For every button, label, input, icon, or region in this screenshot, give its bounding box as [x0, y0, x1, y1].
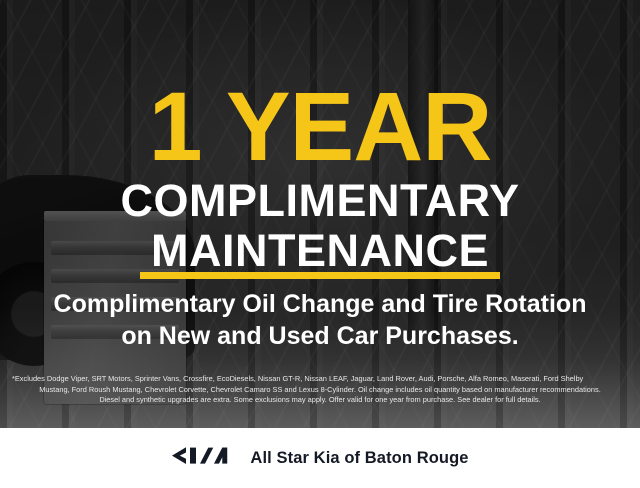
kia-wordmark-logo: [171, 445, 233, 471]
hero-section: 1 YEAR COMPLIMENTARY MAINTENANCE Complim…: [0, 0, 640, 428]
disclaimer-line-2: Mustang, Ford Roush Mustang, Chevrolet C…: [12, 385, 628, 396]
yellow-divider-rule: [140, 272, 500, 279]
disclaimer-text: *Excludes Dodge Viper, SRT Motors, Sprin…: [12, 374, 628, 406]
offer-description: Complimentary Oil Change and Tire Rotati…: [0, 288, 640, 352]
headline-year: 1 YEAR: [0, 78, 640, 175]
offer-line-1: Complimentary Oil Change and Tire Rotati…: [0, 288, 640, 320]
promotional-banner: 1 YEAR COMPLIMENTARY MAINTENANCE Complim…: [0, 0, 640, 488]
headline-line-1: COMPLIMENTARY: [0, 176, 640, 226]
hero-copy: 1 YEAR COMPLIMENTARY MAINTENANCE Complim…: [0, 0, 640, 428]
offer-line-2: on New and Used Car Purchases.: [0, 320, 640, 352]
headline-line-2: MAINTENANCE: [0, 226, 640, 276]
disclaimer-line-3: Diesel and synthetic upgrades are extra.…: [12, 395, 628, 406]
dealer-footer: All Star Kia of Baton Rouge: [0, 428, 640, 488]
dealer-name: All Star Kia of Baton Rouge: [250, 449, 468, 468]
headline-maintenance: COMPLIMENTARY MAINTENANCE: [0, 176, 640, 276]
disclaimer-line-1: *Excludes Dodge Viper, SRT Motors, Sprin…: [12, 374, 628, 385]
